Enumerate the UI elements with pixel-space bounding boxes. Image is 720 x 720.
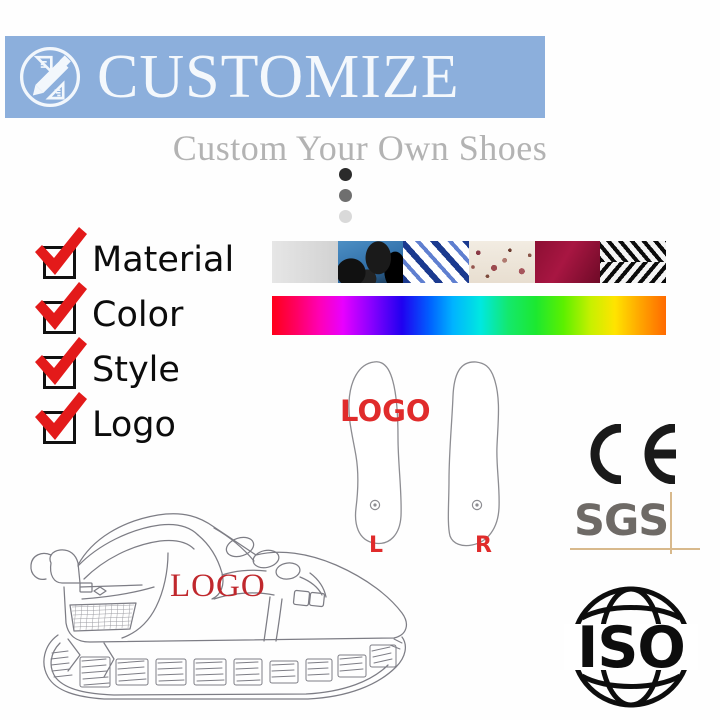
check-tick-icon bbox=[32, 390, 90, 446]
checklist-label: Style bbox=[92, 351, 180, 389]
checkbox-color[interactable] bbox=[38, 292, 84, 338]
insole-right bbox=[448, 362, 499, 546]
insole-logo-text: LOGO bbox=[340, 394, 431, 428]
color-gradient-bar[interactable] bbox=[272, 296, 666, 335]
carousel-dots bbox=[339, 168, 355, 231]
swatch-plain-light-gray[interactable] bbox=[272, 241, 338, 283]
sgs-accent-horizontal-line bbox=[570, 548, 700, 550]
ce-mark bbox=[583, 424, 683, 484]
checklist-label: Logo bbox=[92, 406, 176, 444]
checkbox-style[interactable] bbox=[38, 347, 84, 393]
subtitle: Custom Your Own Shoes bbox=[0, 128, 720, 168]
swatch-floral-speckle[interactable] bbox=[469, 241, 535, 283]
swatch-maroon-solid[interactable] bbox=[535, 241, 601, 283]
dot-3[interactable] bbox=[339, 210, 352, 223]
swatch-blue-black-camo[interactable] bbox=[338, 241, 404, 283]
checklist-label: Color bbox=[92, 296, 183, 334]
page-title: CUSTOMIZE bbox=[97, 46, 460, 108]
dot-1[interactable] bbox=[339, 168, 352, 181]
swatch-black-white-chevron[interactable] bbox=[600, 241, 666, 283]
sgs-label: SGS bbox=[574, 498, 668, 544]
header-banner: CUSTOMIZE bbox=[5, 36, 545, 118]
shoe-logo-text: LOGO bbox=[170, 568, 266, 605]
checkbox-material[interactable] bbox=[38, 237, 84, 283]
material-swatch-row bbox=[272, 241, 666, 283]
pencil-ruler-design-icon bbox=[17, 44, 83, 110]
insole-label-right: R bbox=[475, 533, 492, 558]
checklist-item-logo[interactable]: Logo bbox=[38, 397, 288, 452]
swatch-blue-white-stripe[interactable] bbox=[403, 241, 469, 283]
iso-wordmark: ISO bbox=[577, 615, 685, 681]
check-tick-icon bbox=[32, 335, 90, 391]
customization-checklist: Material Color Style Logo bbox=[38, 232, 288, 452]
check-tick-icon bbox=[32, 225, 90, 281]
checkbox-logo[interactable] bbox=[38, 402, 84, 448]
sgs-accent-vertical-line bbox=[670, 492, 672, 554]
dot-2[interactable] bbox=[339, 189, 352, 202]
check-tick-icon bbox=[32, 280, 90, 336]
checklist-label: Material bbox=[92, 241, 234, 279]
sgs-badge: SGS bbox=[570, 492, 700, 560]
iso-logo: ISO bbox=[556, 584, 706, 710]
